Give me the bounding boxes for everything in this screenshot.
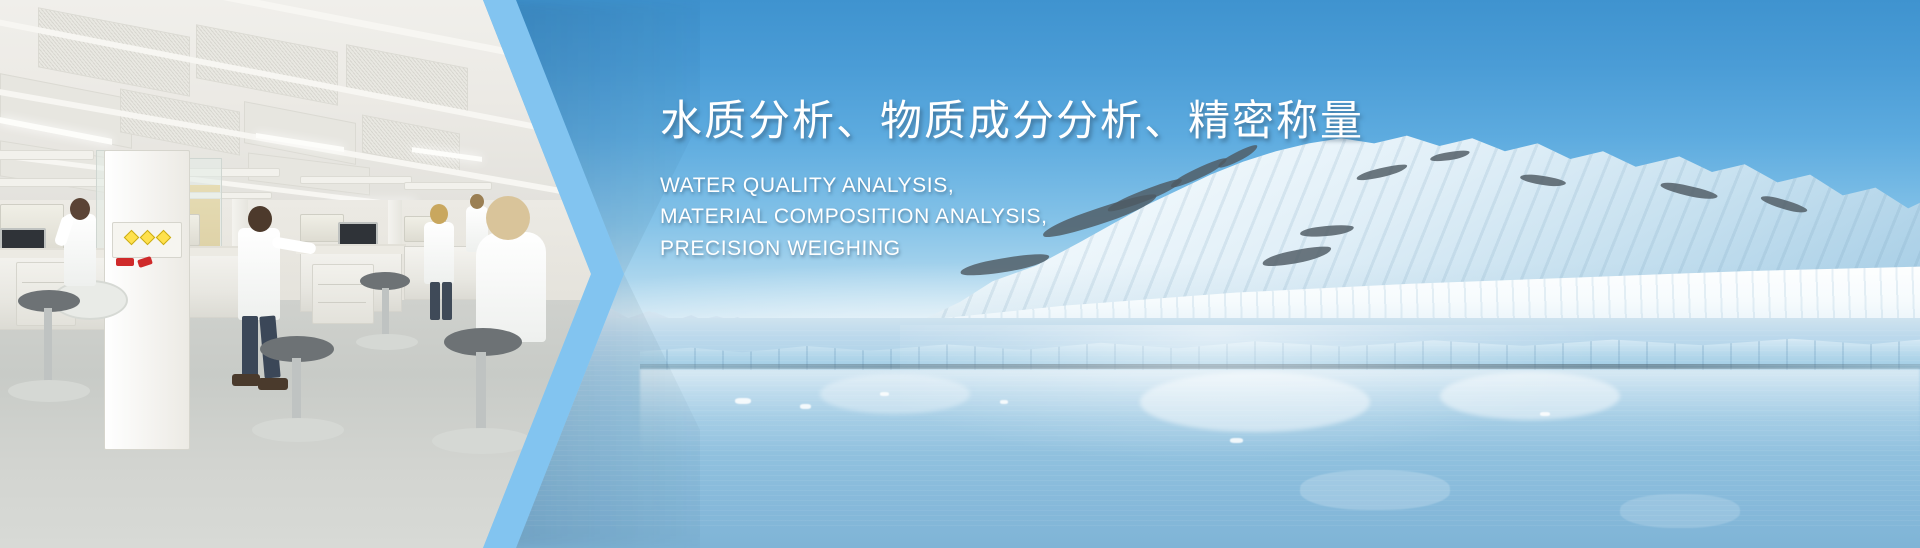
floating-ice [1230,438,1243,443]
lab-stool-base [252,418,344,442]
lab-stool-base [432,428,532,454]
scientist-head [70,198,90,220]
scientist-shoe [232,374,260,386]
lab-stool-base [356,334,418,350]
lab-stool-base [8,380,90,402]
submerged-ice [1620,494,1740,528]
scientist-head [486,196,530,240]
emergency-stop-control [116,258,134,266]
wall-shelf [300,176,412,184]
floating-ice [1540,412,1550,416]
lab-stool-pole [476,352,486,438]
scientist-figure-foreground [476,232,546,342]
drawer-divider [22,282,68,283]
hero-banner: 水质分析、物质成分分析、精密称量 WATER QUALITY ANALYSIS,… [0,0,1920,548]
scientist-legs [242,316,258,378]
floating-ice [1000,400,1008,404]
scientist-head [248,206,272,232]
bench-cabinet [312,264,374,324]
floating-ice [735,398,751,404]
scientist-shoe [258,378,288,390]
drawer-divider [318,284,366,285]
scientist-figure [424,222,454,284]
banner-subtitle: WATER QUALITY ANALYSIS, MATERIAL COMPOSI… [660,170,1400,266]
scientist-head [430,204,448,224]
submerged-ice [1300,470,1450,510]
subtitle-line-1: WATER QUALITY ANALYSIS, [660,170,1400,202]
wall-shelf [0,178,108,187]
water-sun-glow [900,325,1600,505]
wall-shelf [404,182,492,190]
floating-ice [880,392,889,396]
drawer-divider [318,302,366,303]
scientist-legs [430,282,440,320]
laboratory-photo [0,0,600,548]
wall-shelf [0,150,94,160]
floating-ice [800,404,811,409]
banner-copy: 水质分析、物质成分分析、精密称量 WATER QUALITY ANALYSIS,… [660,96,1400,265]
banner-headline: 水质分析、物质成分分析、精密称量 [660,96,1400,146]
subtitle-line-3: PRECISION WEIGHING [660,233,1400,265]
subtitle-line-2: MATERIAL COMPOSITION ANALYSIS, [660,201,1400,233]
lab-stool-pole [44,308,52,390]
scientist-head [470,194,484,209]
scientist-legs [442,282,452,320]
